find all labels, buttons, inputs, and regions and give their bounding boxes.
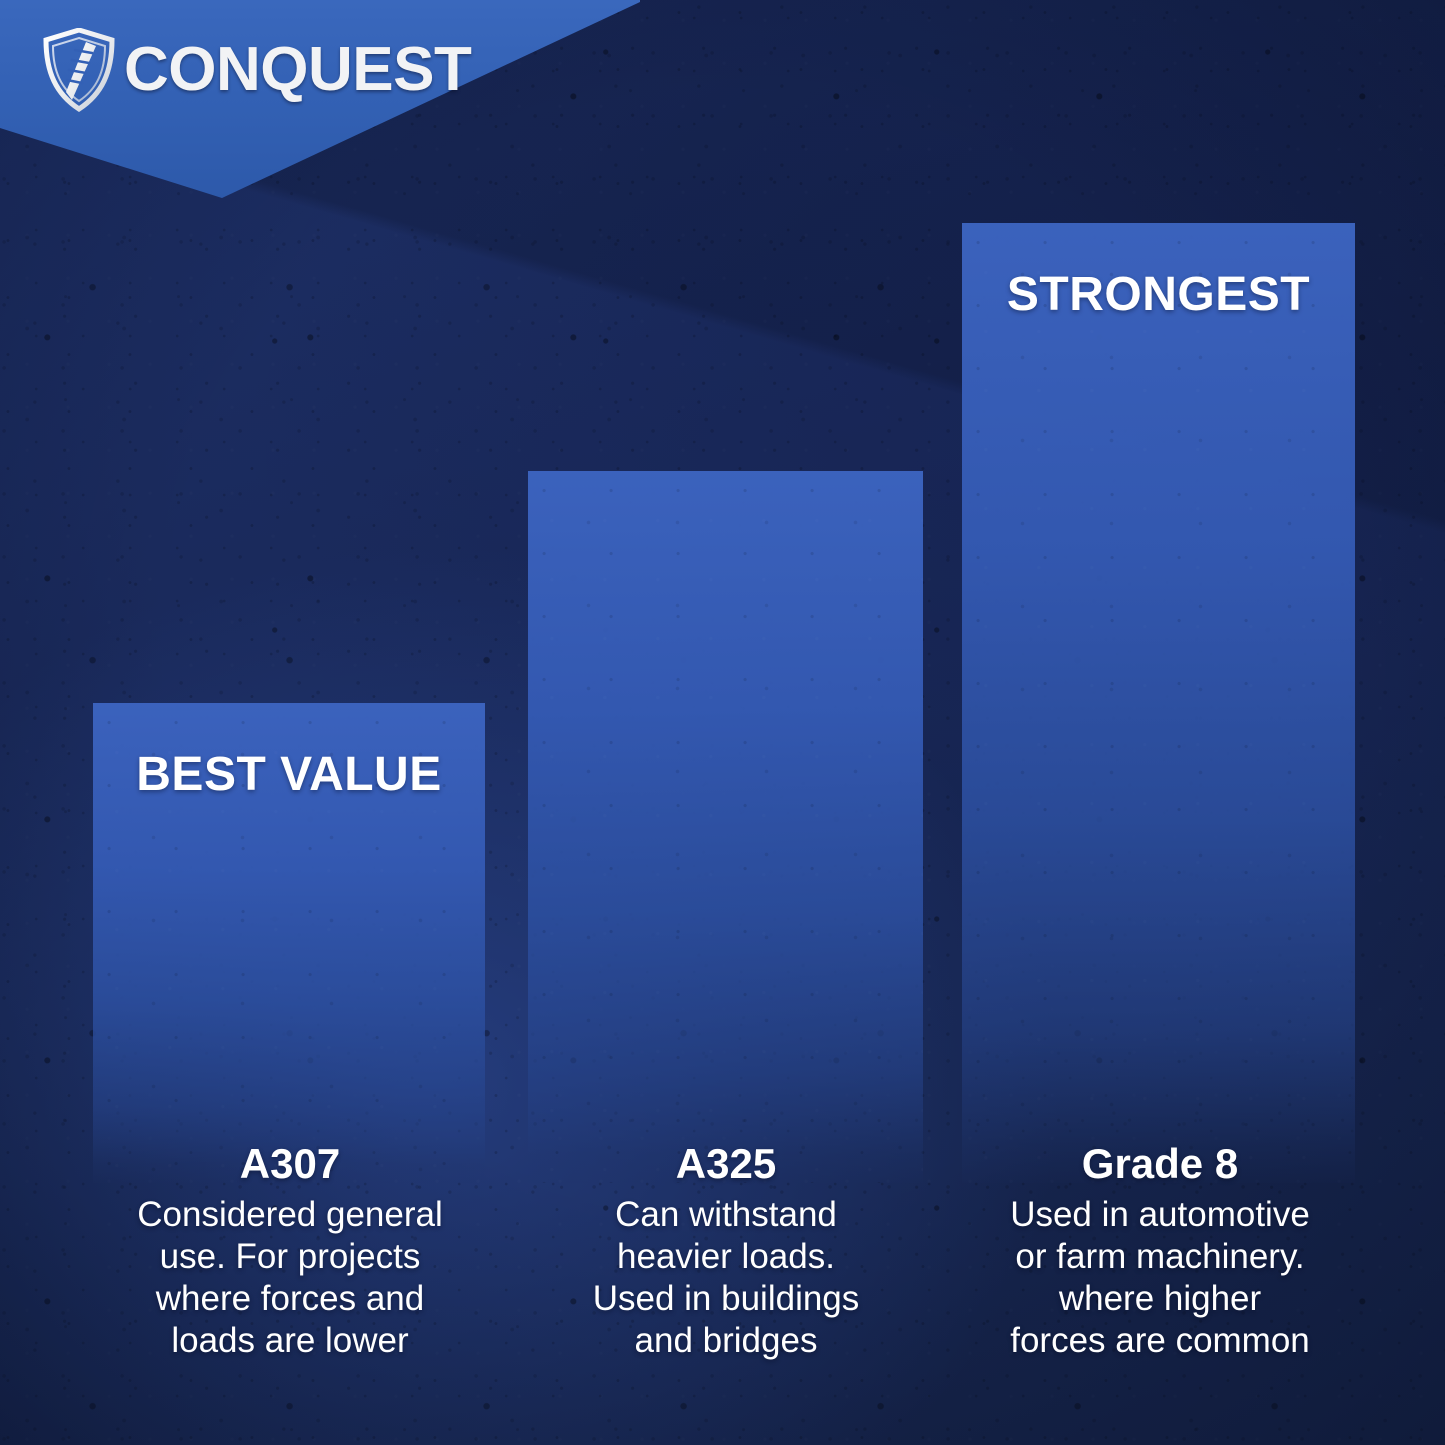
bar-a325 (528, 471, 923, 1183)
caption-line: where higher (945, 1278, 1375, 1320)
caption-grade-8: Grade 8 Used in automotive or farm machi… (945, 1142, 1375, 1362)
caption-line: Considered general (75, 1194, 505, 1236)
bar-badge-strongest: STRONGEST (962, 271, 1355, 319)
caption-a325: A325 Can withstand heavier loads. Used i… (512, 1142, 940, 1362)
caption-line: Used in automotive (945, 1194, 1375, 1236)
caption-title: A307 (75, 1142, 505, 1186)
brand-wordmark: CONQUEST (124, 39, 471, 101)
caption-line: forces are common (945, 1320, 1375, 1362)
caption-a307: A307 Considered general use. For project… (75, 1142, 505, 1362)
caption-line: Used in buildings (512, 1278, 940, 1320)
caption-line: loads are lower (75, 1320, 505, 1362)
infographic-canvas: CONQUEST BEST VALUE STRONGEST A307 Consi… (0, 0, 1445, 1445)
shield-bolt-icon (42, 28, 116, 112)
caption-line: Can withstand (512, 1194, 940, 1236)
bar-texture (962, 223, 1355, 1183)
caption-title: A325 (512, 1142, 940, 1186)
caption-line: heavier loads. (512, 1236, 940, 1278)
bar-badge-best-value: BEST VALUE (93, 751, 485, 799)
bar-a307: BEST VALUE (93, 703, 485, 1183)
bar-texture (528, 471, 923, 1183)
caption-line: and bridges (512, 1320, 940, 1362)
caption-line: or farm machinery. (945, 1236, 1375, 1278)
caption-line: use. For projects (75, 1236, 505, 1278)
caption-line: where forces and (75, 1278, 505, 1320)
brand-logo[interactable]: CONQUEST (42, 28, 471, 112)
caption-title: Grade 8 (945, 1142, 1375, 1186)
bar-grade-8: STRONGEST (962, 223, 1355, 1183)
